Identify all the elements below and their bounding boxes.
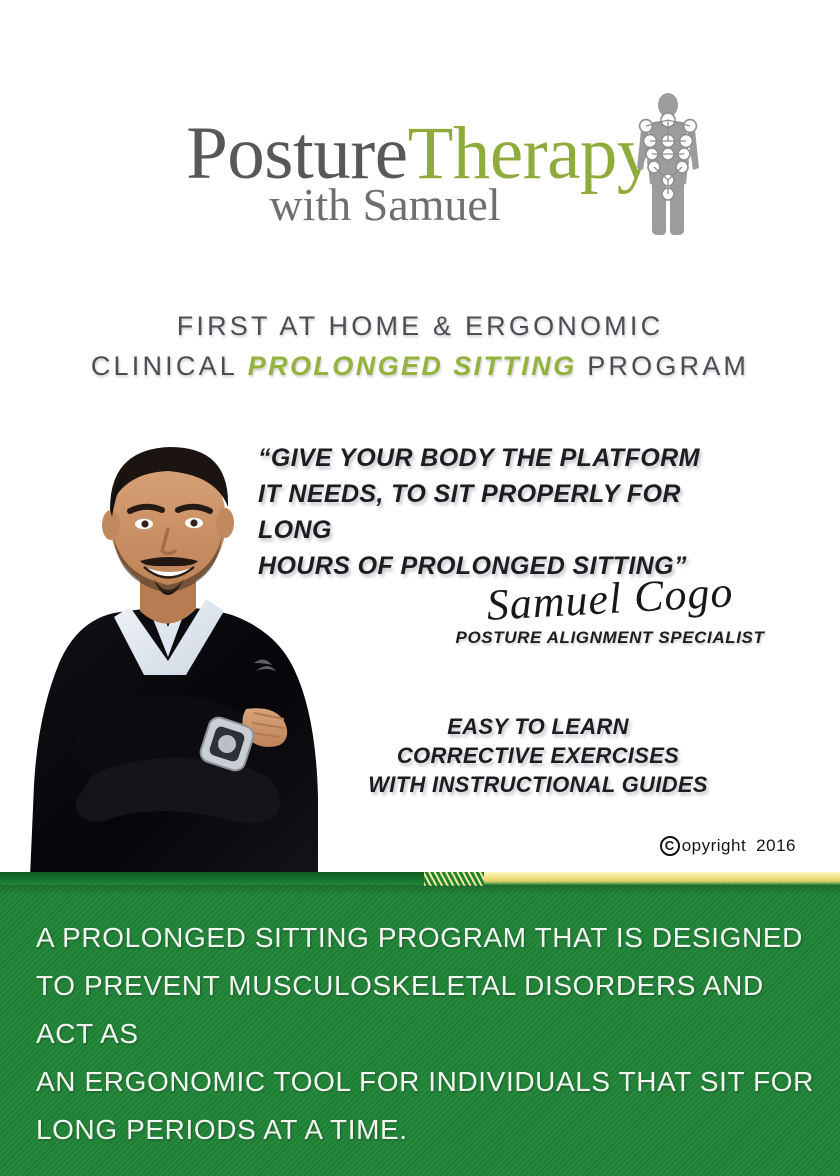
band-top-shadow xyxy=(0,885,840,895)
copyright-notice: C opyright 2016 xyxy=(660,836,796,856)
band-gold-accent xyxy=(428,872,840,885)
signature-block: Samuel Cogo POSTURE ALIGNMENT SPECIALIST xyxy=(430,576,790,648)
headline-line-2-pre: CLINICAL xyxy=(91,351,248,381)
feature-line-3: WITH INSTRUCTIONAL GUIDES xyxy=(368,770,708,799)
pull-quote: “GIVE YOUR BODY THE PLATFORM IT NEEDS, T… xyxy=(258,440,728,584)
footer-line-2: TO PREVENT MUSCULOSKELETAL DISORDERS AND… xyxy=(36,962,814,1058)
headline-line-1: FIRST AT HOME & ERGONOMIC xyxy=(177,311,664,341)
page-headline: FIRST AT HOME & ERGONOMIC CLINICAL PROLO… xyxy=(0,306,840,386)
band-diagonal-slash-icon xyxy=(424,872,484,886)
feature-line-1: EASY TO LEARN xyxy=(368,712,708,741)
quote-line-2: IT NEEDS, TO SIT PROPERLY FOR LONG xyxy=(258,476,728,548)
quote-line-1: “GIVE YOUR BODY THE PLATFORM xyxy=(258,440,728,476)
copyright-year: 2016 xyxy=(756,836,796,856)
footer-description: A PROLONGED SITTING PROGRAM THAT IS DESI… xyxy=(36,914,814,1154)
feature-list: EASY TO LEARN CORRECTIVE EXERCISES WITH … xyxy=(368,712,708,799)
headline-line-2-post: PROGRAM xyxy=(577,351,750,381)
band-top-lip xyxy=(0,872,445,884)
headline-line-2: CLINICAL PROLONGED SITTING PROGRAM xyxy=(0,346,840,386)
footer-band: A PROLONGED SITTING PROGRAM THAT IS DESI… xyxy=(0,872,840,1176)
footer-line-3: AN ERGONOMIC TOOL FOR INDIVIDUALS THAT S… xyxy=(36,1058,814,1106)
footer-line-1: A PROLONGED SITTING PROGRAM THAT IS DESI… xyxy=(36,914,814,962)
copyright-icon: C xyxy=(660,836,680,856)
copyright-label: opyright xyxy=(682,836,746,856)
logo-wordmark: PostureTherapy with Samuel xyxy=(186,118,654,227)
signature-title: POSTURE ALIGNMENT SPECIALIST xyxy=(430,628,790,648)
feature-line-2: CORRECTIVE EXERCISES xyxy=(368,741,708,770)
brand-logo: PostureTherapy with Samuel xyxy=(0,118,840,227)
signature-name: Samuel Cogo xyxy=(429,566,791,632)
poster-cover: PostureTherapy with Samuel xyxy=(0,0,840,1176)
footer-line-4: LONG PERIODS AT A TIME. xyxy=(36,1106,814,1154)
human-posture-figure-icon xyxy=(628,92,708,237)
headline-emphasis: PROLONGED SITTING xyxy=(248,351,577,381)
